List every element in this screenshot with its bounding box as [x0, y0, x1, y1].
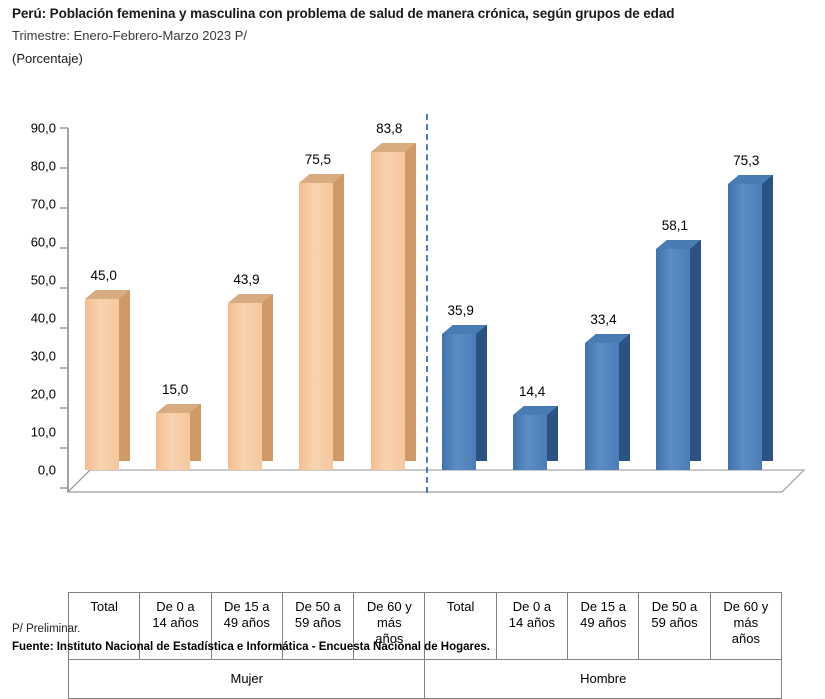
bar-front-face [513, 415, 547, 470]
bar-side-face [690, 240, 701, 461]
chart-subtitle: Trimestre: Enero-Febrero-Marzo 2023 P/ [12, 28, 812, 43]
bar-front-face [656, 249, 690, 470]
bar-front-face [442, 334, 476, 470]
bar-value-label: 45,0 [68, 268, 139, 283]
bar-value-label: 35,9 [425, 303, 496, 318]
bar-group[interactable]: 35,9 [425, 100, 496, 500]
bar-mujer[interactable] [371, 152, 405, 470]
bar-hombre[interactable] [656, 249, 690, 470]
bar-value-label: 43,9 [211, 272, 282, 287]
bar-value-label: 75,3 [711, 153, 782, 168]
bar-group[interactable]: 33,4 [568, 100, 639, 500]
bar-front-face [228, 303, 262, 470]
bar-group[interactable]: 45,0 [68, 100, 139, 500]
chart-units-label: (Porcentaje) [12, 51, 812, 66]
bars-layer: 45,015,043,975,583,835,914,433,458,175,3 [0, 100, 825, 500]
bar-front-face [728, 184, 762, 470]
bar-group[interactable]: 83,8 [354, 100, 425, 500]
bar-mujer[interactable] [299, 183, 333, 470]
category-label-line: De 50 a [284, 599, 352, 615]
bar-group[interactable]: 75,5 [282, 100, 353, 500]
page-title: Perú: Población femenina y masculina con… [12, 6, 812, 21]
bar-side-face [262, 294, 273, 461]
bar-hombre[interactable] [513, 415, 547, 470]
bar-side-face [119, 290, 130, 461]
chart-plot-area: 0,010,020,030,040,050,060,070,080,090,0 … [0, 100, 825, 600]
category-label-line: De 0 a [141, 599, 209, 615]
category-label-line: De 50 a [640, 599, 708, 615]
bar-value-label: 58,1 [639, 218, 710, 233]
bar-value-label: 14,4 [496, 384, 567, 399]
bar-group[interactable]: 43,9 [211, 100, 282, 500]
group-label-row: MujerHombre [69, 660, 782, 699]
source-attribution: Fuente: Instituto Nacional de Estadístic… [12, 641, 812, 653]
bar-side-face [333, 174, 344, 461]
category-label-line: De 60 y [712, 599, 780, 615]
bar-mujer[interactable] [156, 413, 190, 470]
bar-hombre[interactable] [442, 334, 476, 470]
bar-value-label: 83,8 [354, 121, 425, 136]
bar-mujer[interactable] [228, 303, 262, 470]
bar-front-face [85, 299, 119, 470]
footnote-preliminary: P/ Preliminar. [12, 623, 812, 635]
bar-hombre[interactable] [728, 184, 762, 470]
bar-side-face [190, 404, 201, 461]
group-label-cell: Mujer [69, 660, 425, 699]
category-label-line: De 60 y [355, 599, 423, 615]
bar-side-face [547, 406, 558, 461]
chart-header: Perú: Población femenina y masculina con… [12, 6, 812, 66]
bar-hombre[interactable] [585, 343, 619, 470]
bar-side-face [476, 325, 487, 461]
bar-front-face [585, 343, 619, 470]
bar-side-face [619, 334, 630, 461]
series-divider-line [426, 114, 428, 493]
bar-group[interactable]: 14,4 [496, 100, 567, 500]
bar-group[interactable]: 58,1 [639, 100, 710, 500]
bar-side-face [405, 143, 416, 461]
bar-value-label: 33,4 [568, 312, 639, 327]
bar-front-face [299, 183, 333, 470]
bar-value-label: 15,0 [139, 382, 210, 397]
chart-footer: P/ Preliminar. Fuente: Instituto Naciona… [12, 623, 812, 653]
bar-side-face [762, 175, 773, 461]
category-label-line: De 0 a [498, 599, 566, 615]
bar-front-face [371, 152, 405, 470]
bar-group[interactable]: 75,3 [711, 100, 782, 500]
bar-group[interactable]: 15,0 [139, 100, 210, 500]
category-label-line: De 15 a [213, 599, 281, 615]
bar-front-face [156, 413, 190, 470]
group-label-cell: Hombre [425, 660, 782, 699]
category-label-line: Total [426, 599, 494, 615]
bar-mujer[interactable] [85, 299, 119, 470]
bar-value-label: 75,5 [282, 152, 353, 167]
category-label-line: De 15 a [569, 599, 637, 615]
category-label-line: Total [70, 599, 138, 615]
